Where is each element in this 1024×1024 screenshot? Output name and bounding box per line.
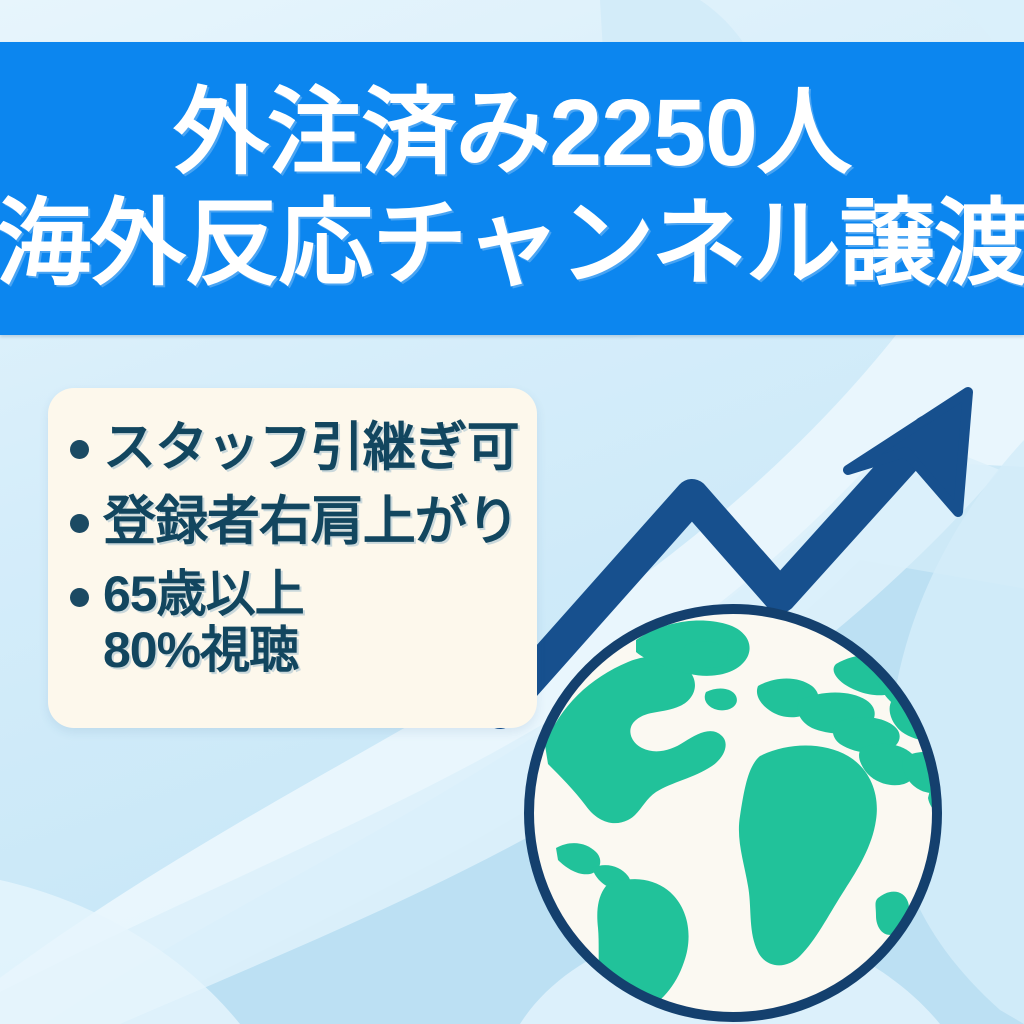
headline-line-2: 海外反応チャンネル譲渡 [0, 197, 1024, 292]
headline-line-1: 外注済み2250人 [173, 86, 851, 181]
feature-label-3: 65歳以上 80%視聴 [103, 566, 304, 679]
bullet-dot-icon [70, 588, 89, 607]
list-item: 65歳以上 80%視聴 [70, 566, 519, 679]
features-card: スタッフ引継ぎ可 登録者右肩上がり 65歳以上 80%視聴 [48, 388, 537, 728]
headline-banner: 外注済み2250人 海外反応チャンネル譲渡 [0, 42, 1024, 335]
bullet-dot-icon [70, 514, 89, 533]
list-item: 登録者右肩上がり [70, 492, 519, 552]
feature-label-2: 登録者右肩上がり [103, 492, 519, 552]
list-item: スタッフ引継ぎ可 [70, 418, 519, 478]
poster-root: 外注済み2250人 海外反応チャンネル譲渡 [0, 0, 1024, 1024]
feature-label-1: スタッフ引継ぎ可 [103, 418, 519, 478]
bullet-dot-icon [70, 440, 89, 459]
